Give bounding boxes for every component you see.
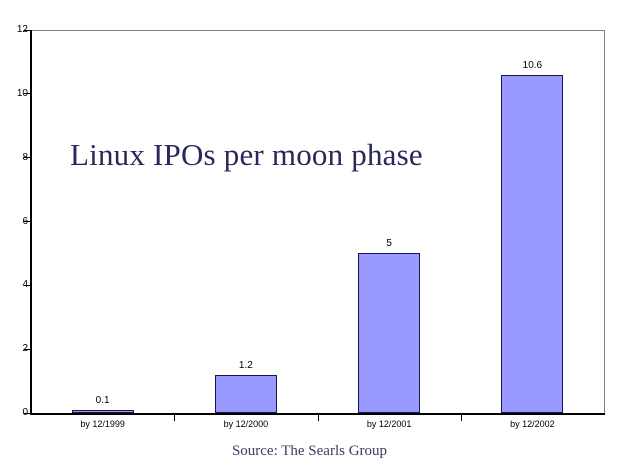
bar (72, 410, 134, 413)
bar-value-label: 5 (359, 239, 419, 249)
y-tick-label: 12 (2, 25, 28, 35)
x-category-label: by 12/2002 (482, 420, 582, 429)
bar (215, 375, 277, 413)
x-tick-mark (174, 414, 175, 421)
y-tick-label: 4 (2, 280, 28, 290)
y-tick-label: 2 (2, 344, 28, 354)
y-tick-label: 8 (2, 153, 28, 163)
bar (358, 253, 420, 413)
chart-screenshot: 024681012 0.11.2510.6 by 12/1999by 12/20… (0, 0, 619, 470)
y-axis-line (30, 30, 32, 415)
bar-value-label: 10.6 (502, 61, 562, 71)
chart-title: Linux IPOs per moon phase (70, 137, 423, 173)
x-category-label: by 12/2001 (339, 420, 439, 429)
bar-value-label: 1.2 (216, 361, 276, 371)
bar-value-label: 0.1 (73, 396, 133, 406)
y-tick-label: 0 (2, 408, 28, 418)
y-tick-label: 6 (2, 217, 28, 227)
x-tick-mark (461, 414, 462, 421)
x-tick-mark (318, 414, 319, 421)
x-category-label: by 12/1999 (53, 420, 153, 429)
source-note: Source: The Searls Group (0, 443, 619, 460)
x-category-label: by 12/2000 (196, 420, 296, 429)
y-tick-label: 10 (2, 89, 28, 99)
bar (501, 75, 563, 413)
